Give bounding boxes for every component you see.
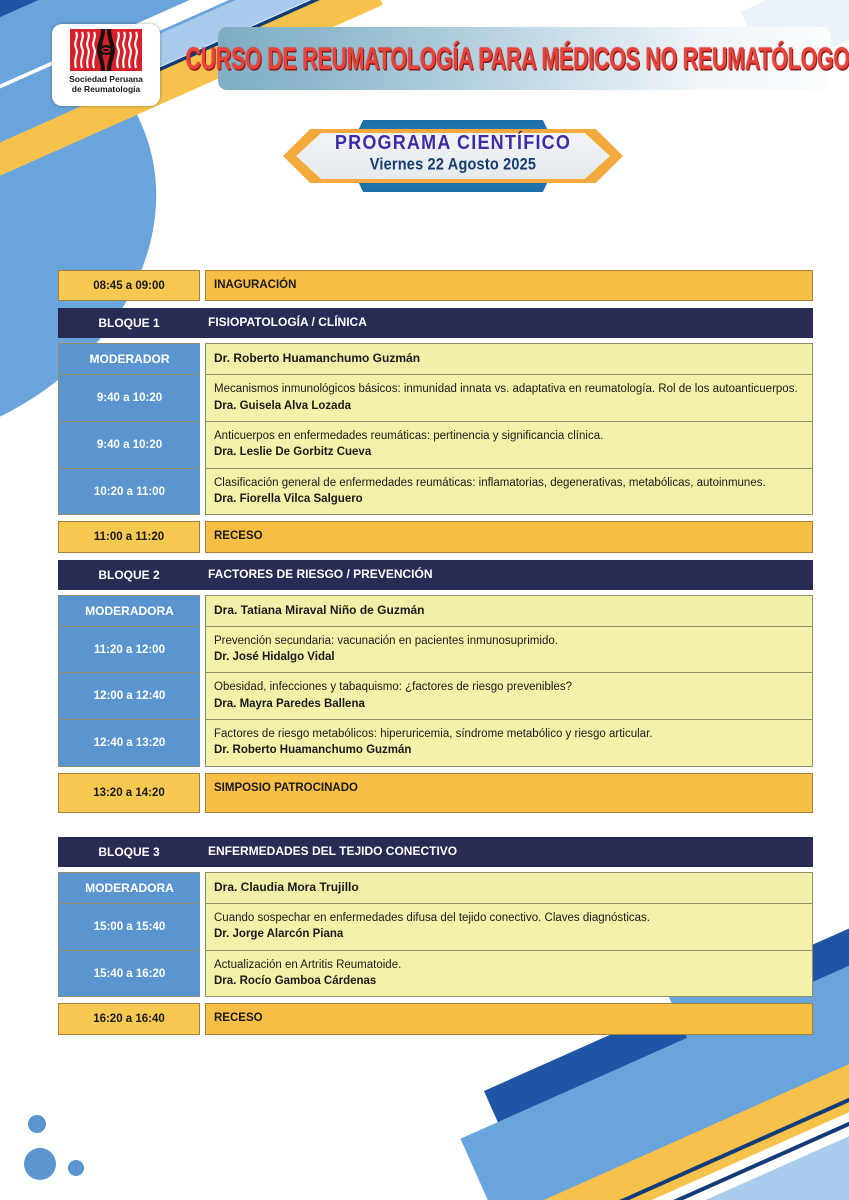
talk-speaker: Dr. Roberto Huamanchumo Guzmán xyxy=(214,742,804,758)
logo-caption-line1: Sociedad Peruana xyxy=(69,74,143,84)
talk-title: Prevención secundaria: vacunación en pac… xyxy=(214,633,804,649)
schedule-row-talk: 15:00 a 15:40Cuando sospechar en enferme… xyxy=(58,904,813,951)
decor-bottom-right-white xyxy=(471,1017,849,1200)
talk-title: Factores de riesgo metabólicos: hiperuri… xyxy=(214,726,804,742)
schedule-content-cell: Dra. Tatiana Miraval Niño de Guzmán xyxy=(205,595,813,627)
schedule-content-cell: FISIOPATOLOGÍA / CLÍNICA xyxy=(200,308,813,338)
decor-circle-large xyxy=(24,1148,56,1180)
decor-bottom-right-pale-line xyxy=(512,1058,849,1200)
talk-speaker: Dr. Jorge Alarcón Piana xyxy=(214,926,804,942)
banner-date: Viernes 22 Agosto 2025 xyxy=(283,152,623,177)
talk-title: Anticuerpos en enfermedades reumáticas: … xyxy=(214,428,804,444)
schedule-row-talk: 10:20 a 11:00Clasificación general de en… xyxy=(58,469,813,516)
schedule-row-break: 13:20 a 14:20SIMPOSIO PATROCINADO xyxy=(58,773,813,813)
schedule-time-cell: MODERADORA xyxy=(58,872,200,904)
schedule-row-bloque: BLOQUE 3ENFERMEDADES DEL TEJIDO CONECTIV… xyxy=(58,837,813,867)
talk-title: Cuando sospechar en enfermedades difusa … xyxy=(214,910,804,926)
schedule-row-moderator: MODERADORDr. Roberto Huamanchumo Guzmán xyxy=(58,343,813,375)
decor-bottom-right-navy-line-2 xyxy=(493,1044,849,1200)
program-banner: PROGRAMA CIENTÍFICO Viernes 22 Agosto 20… xyxy=(283,120,623,192)
schedule-row-talk: 15:40 a 16:20Actualización en Artritis R… xyxy=(58,951,813,998)
schedule-time-cell: 9:40 a 10:20 xyxy=(58,422,200,469)
schedule-time-cell: 16:20 a 16:40 xyxy=(58,1003,200,1034)
talk-title: Obesidad, infecciones y tabaquismo: ¿fac… xyxy=(214,679,804,695)
schedule-content-cell: FACTORES DE RIESGO / PREVENCIÓN xyxy=(200,560,813,590)
talk-speaker: Dra. Leslie De Gorbitz Cueva xyxy=(214,444,804,460)
banner-title: PROGRAMA CIENTÍFICO xyxy=(283,129,623,155)
talk-speaker: Dra. Guisela Alva Lozada xyxy=(214,398,804,414)
schedule-row-talk: 12:00 a 12:40Obesidad, infecciones y tab… xyxy=(58,673,813,720)
schedule-content-cell: Anticuerpos en enfermedades reumáticas: … xyxy=(205,422,813,469)
schedule-content-cell: Prevención secundaria: vacunación en pac… xyxy=(205,627,813,674)
logo-caption: Sociedad Peruana de Reumatología xyxy=(69,74,143,95)
program-page: Sociedad Peruana de Reumatología CURSO D… xyxy=(0,0,849,1200)
schedule-row-talk: 9:40 a 10:20Anticuerpos en enfermedades … xyxy=(58,422,813,469)
decor-circle-small-right xyxy=(68,1160,84,1176)
talk-speaker: Dra. Rocío Gamboa Cárdenas xyxy=(214,973,804,989)
talk-title: Mecanismos inmunológicos básicos: inmuni… xyxy=(214,381,804,397)
schedule-content-cell: Actualización en Artritis Reumatoide.Dra… xyxy=(205,951,813,998)
schedule-time-cell: MODERADOR xyxy=(58,343,200,375)
schedule-time-cell: 15:00 a 15:40 xyxy=(58,904,200,951)
course-title: CURSO DE REUMATOLOGÍA PARA MÉDICOS NO RE… xyxy=(185,40,849,78)
schedule-time-cell: 12:00 a 12:40 xyxy=(58,673,200,720)
talk-title: Actualización en Artritis Reumatoide. xyxy=(214,957,804,973)
schedule-content-cell: RECESO xyxy=(205,1003,813,1034)
schedule-time-cell: 11:20 a 12:00 xyxy=(58,627,200,674)
schedule-content-cell: INAGURACIÓN xyxy=(205,270,813,301)
schedule-content-cell: Factores de riesgo metabólicos: hiperuri… xyxy=(205,720,813,767)
schedule-row-break: 11:00 a 11:20RECESO xyxy=(58,521,813,552)
talk-speaker: Dra. Mayra Paredes Ballena xyxy=(214,696,804,712)
schedule-time-cell: 15:40 a 16:20 xyxy=(58,951,200,998)
schedule-time-cell: 12:40 a 13:20 xyxy=(58,720,200,767)
logo-caption-line2: de Reumatología xyxy=(69,84,143,94)
schedule-content-cell: SIMPOSIO PATROCINADO xyxy=(205,773,813,813)
schedule-row-talk: 11:20 a 12:00Prevención secundaria: vacu… xyxy=(58,627,813,674)
banner-text: PROGRAMA CIENTÍFICO Viernes 22 Agosto 20… xyxy=(283,131,623,176)
schedule-content-cell: RECESO xyxy=(205,521,813,552)
schedule-time-cell: MODERADORA xyxy=(58,595,200,627)
schedule-row-talk: 12:40 a 13:20Factores de riesgo metabóli… xyxy=(58,720,813,767)
schedule-row-moderator: MODERADORADra. Tatiana Miraval Niño de G… xyxy=(58,595,813,627)
schedule-row-bloque: BLOQUE 1FISIOPATOLOGÍA / CLÍNICA xyxy=(58,308,813,338)
schedule-content-cell: Clasificación general de enfermedades re… xyxy=(205,469,813,516)
schedule-table: 08:45 a 09:00INAGURACIÓNBLOQUE 1FISIOPAT… xyxy=(58,270,813,1042)
schedule-content-cell: Dr. Roberto Huamanchumo Guzmán xyxy=(205,343,813,375)
schedule-row-break: 16:20 a 16:40RECESO xyxy=(58,1003,813,1034)
decor-bottom-right-paleblue xyxy=(451,1049,849,1200)
schedule-row-break: 08:45 a 09:00INAGURACIÓN xyxy=(58,270,813,301)
schedule-time-cell: 08:45 a 09:00 xyxy=(58,270,200,301)
schedule-content-cell: Cuando sospechar en enfermedades difusa … xyxy=(205,904,813,951)
schedule-time-cell: BLOQUE 1 xyxy=(58,308,200,338)
schedule-content-cell: ENFERMEDADES DEL TEJIDO CONECTIVO xyxy=(200,837,813,867)
schedule-time-cell: 10:20 a 11:00 xyxy=(58,469,200,516)
course-title-bar: CURSO DE REUMATOLOGÍA PARA MÉDICOS NO RE… xyxy=(218,27,831,90)
decor-bottom-right-navy-line-1 xyxy=(502,1024,849,1200)
schedule-content-cell: Mecanismos inmunológicos básicos: inmuni… xyxy=(205,375,813,422)
society-logo: Sociedad Peruana de Reumatología xyxy=(52,24,160,106)
schedule-content-cell: Dra. Claudia Mora Trujillo xyxy=(205,872,813,904)
talk-speaker: Dr. José Hidalgo Vidal xyxy=(214,649,804,665)
decor-circle-small-top xyxy=(28,1115,46,1133)
schedule-time-cell: 9:40 a 10:20 xyxy=(58,375,200,422)
spine-joint-logo-icon xyxy=(70,29,142,71)
schedule-content-cell: Obesidad, infecciones y tabaquismo: ¿fac… xyxy=(205,673,813,720)
schedule-row-bloque: BLOQUE 2FACTORES DE RIESGO / PREVENCIÓN xyxy=(58,560,813,590)
schedule-time-cell: 13:20 a 14:20 xyxy=(58,773,200,813)
talk-title: Clasificación general de enfermedades re… xyxy=(214,475,804,491)
talk-speaker: Dra. Fiorella Vilca Salguero xyxy=(214,491,804,507)
schedule-row-moderator: MODERADORADra. Claudia Mora Trujillo xyxy=(58,872,813,904)
schedule-time-cell: 11:00 a 11:20 xyxy=(58,521,200,552)
schedule-time-cell: BLOQUE 3 xyxy=(58,837,200,867)
schedule-row-talk: 9:40 a 10:20Mecanismos inmunológicos bás… xyxy=(58,375,813,422)
schedule-time-cell: BLOQUE 2 xyxy=(58,560,200,590)
